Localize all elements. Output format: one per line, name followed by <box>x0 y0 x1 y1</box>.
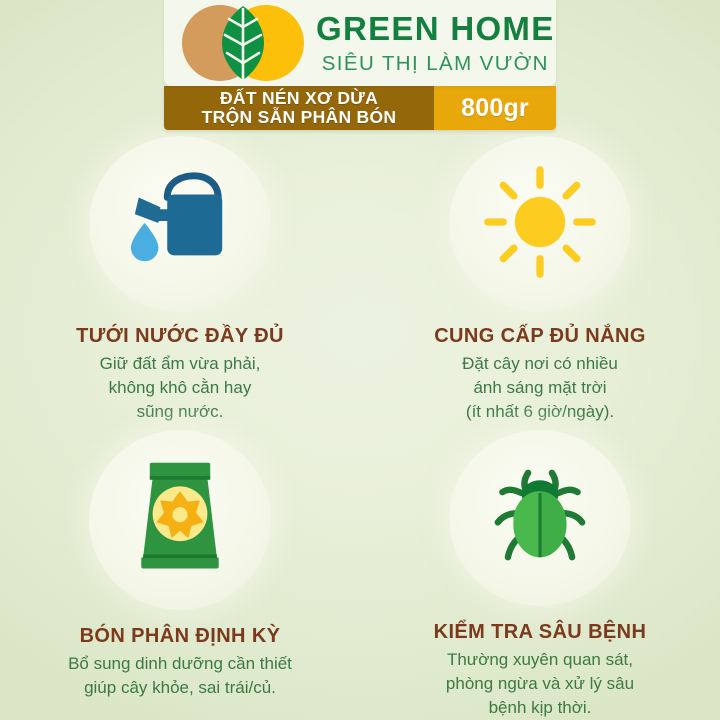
tip-card-watering: TƯỚI NƯỚC ĐẦY ĐỦ Giữ đất ẩm vừa phải, kh… <box>0 128 360 424</box>
tip-body: Giữ đất ẩm vừa phải, không khô cằn hay s… <box>76 352 284 424</box>
tip-card-pest-check: KIỂM TRA SÂU BỆNH Thường xuyên quan sát,… <box>360 424 720 720</box>
tip-body: Thường xuyên quan sát, phòng ngừa và xử … <box>434 648 647 720</box>
tip-text-pest-check: KIỂM TRA SÂU BỆNH Thường xuyên quan sát,… <box>420 622 661 720</box>
bug-icon <box>485 458 595 578</box>
product-name-block: ĐẤT NÉN XƠ DỪA TRỘN SẴN PHÂN BÓN <box>164 86 434 130</box>
brand-logo-card: GREEN HOME SIÊU THỊ LÀM VƯỜN <box>164 0 556 86</box>
tip-title: CUNG CẤP ĐỦ NẮNG <box>434 326 646 347</box>
watering-can-icon <box>121 168 239 281</box>
tip-title: BÓN PHÂN ĐỊNH KỲ <box>68 626 292 647</box>
icon-disc-watering <box>89 136 271 312</box>
tip-title: KIỂM TRA SÂU BỆNH <box>434 622 647 643</box>
tip-body-line: (ít nhất 6 giờ/ngày). <box>434 400 646 424</box>
tip-body-line: Giữ đất ẩm vừa phải, <box>76 352 284 376</box>
tip-body: Bổ sung dinh dưỡng cần thiết giúp cây kh… <box>68 652 292 700</box>
product-weight-block: 800gr <box>434 86 556 130</box>
tip-text-fertilizer: BÓN PHÂN ĐỊNH KỲ Bổ sung dinh dưỡng cần … <box>54 626 306 700</box>
leaf-in-two-circles-logo <box>172 3 314 83</box>
product-name-line-2: TRỘN SẴN PHÂN BÓN <box>202 108 397 127</box>
product-name-line-1: ĐẤT NÉN XƠ DỪA <box>220 89 378 108</box>
icon-disc-sunlight <box>449 136 631 312</box>
infographic-page: GREEN HOME SIÊU THỊ LÀM VƯỜN ĐẤT NÉN XƠ … <box>0 0 720 720</box>
tip-body-line: bệnh kịp thời. <box>434 696 647 720</box>
tip-body-line: giúp cây khỏe, sai trái/củ. <box>68 676 292 700</box>
brand-name: GREEN HOME <box>316 12 555 45</box>
tip-body-line: Đặt cây nơi có nhiều <box>434 352 646 376</box>
tip-card-fertilizer: BÓN PHÂN ĐỊNH KỲ Bổ sung dinh dưỡng cần … <box>0 424 360 720</box>
tip-body-line: phòng ngừa và xử lý sâu <box>434 672 647 696</box>
tip-body-line: ánh sáng mặt trời <box>434 376 646 400</box>
fertilizer-bag-icon <box>128 459 232 582</box>
brand-text-block: GREEN HOME SIÊU THỊ LÀM VƯỜN <box>316 12 563 75</box>
brand-tagline: SIÊU THỊ LÀM VƯỜN <box>322 54 549 75</box>
tip-text-sunlight: CUNG CẤP ĐỦ NẮNG Đặt cây nơi có nhiều án… <box>420 326 660 424</box>
tip-body-line: Thường xuyên quan sát, <box>434 648 647 672</box>
tip-title: TƯỚI NƯỚC ĐẦY ĐỦ <box>76 326 284 347</box>
tip-body-line: Bổ sung dinh dưỡng cần thiết <box>68 652 292 676</box>
tip-body-line: sũng nước. <box>76 400 284 424</box>
sun-icon <box>482 164 598 285</box>
tip-card-sunlight: CUNG CẤP ĐỦ NẮNG Đặt cây nơi có nhiều án… <box>360 128 720 424</box>
icon-disc-fertilizer <box>89 430 271 610</box>
tip-text-watering: TƯỚI NƯỚC ĐẦY ĐỦ Giữ đất ẩm vừa phải, kh… <box>62 326 298 424</box>
tip-body: Đặt cây nơi có nhiều ánh sáng mặt trời (… <box>434 352 646 424</box>
product-banner: ĐẤT NÉN XƠ DỪA TRỘN SẴN PHÂN BÓN 800gr <box>164 86 556 130</box>
care-tips-grid: TƯỚI NƯỚC ĐẦY ĐỦ Giữ đất ẩm vừa phải, kh… <box>0 128 720 720</box>
icon-disc-pest-check <box>449 430 631 606</box>
tip-body-line: không khô cằn hay <box>76 376 284 400</box>
product-weight: 800gr <box>461 94 529 123</box>
